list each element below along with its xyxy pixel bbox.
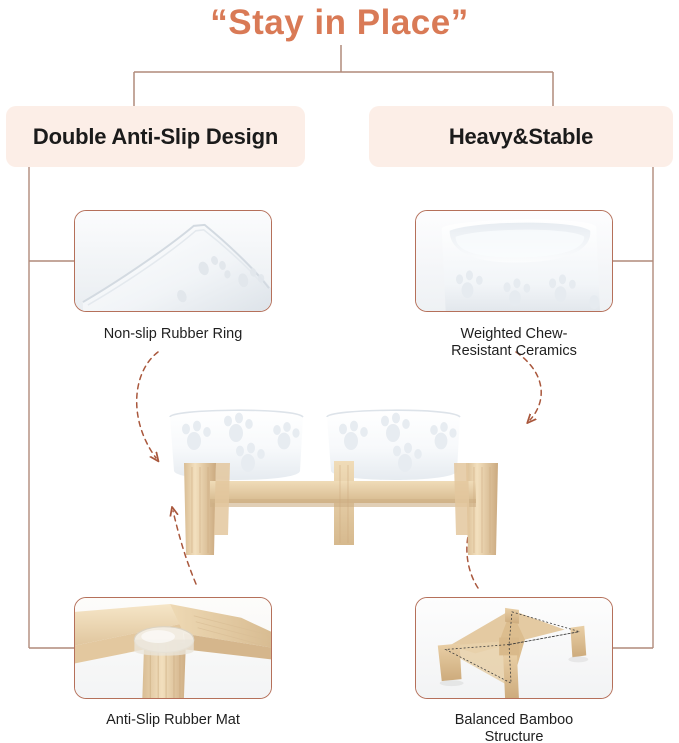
caption-balanced-bamboo-structure: Balanced Bamboo Structure — [395, 712, 633, 743]
product-image-elevated-double-bowl — [148, 385, 538, 555]
caption-non-slip-rubber-ring: Non-slip Rubber Ring — [54, 326, 292, 343]
thumbnail-anti-slip-rubber-mat[interactable] — [74, 597, 272, 699]
ceramic-bowl-interior-image — [416, 211, 612, 312]
category-pill-heavy-and-stable[interactable]: Heavy&Stable — [369, 106, 673, 167]
thumbnail-non-slip-rubber-ring[interactable] — [74, 210, 272, 312]
thumbnail-balanced-bamboo-structure[interactable] — [415, 597, 613, 699]
ceramic-bowl-rim-image — [75, 211, 271, 312]
caption-anti-slip-rubber-mat: Anti-Slip Rubber Mat — [54, 712, 292, 729]
left-rail-connector — [29, 167, 74, 648]
thumbnail-weighted-chew-resistant-ceramics[interactable] — [415, 210, 613, 312]
bamboo-stand-structure-image — [416, 598, 612, 699]
product-feature-infographic: “Stay in Place” Double Anti-Slip Design … — [0, 0, 679, 743]
category-label: Heavy&Stable — [449, 124, 593, 150]
top-bracket-connector — [134, 45, 553, 106]
right-rail-connector — [613, 167, 653, 648]
bamboo-leg-rubber-foot-image — [75, 598, 271, 699]
caption-weighted-chew-resistant-ceramics: Weighted Chew- Resistant Ceramics — [395, 326, 633, 360]
category-label: Double Anti-Slip Design — [33, 124, 278, 150]
category-pill-double-anti-slip-design[interactable]: Double Anti-Slip Design — [6, 106, 305, 167]
page-title: “Stay in Place” — [0, 0, 679, 46]
